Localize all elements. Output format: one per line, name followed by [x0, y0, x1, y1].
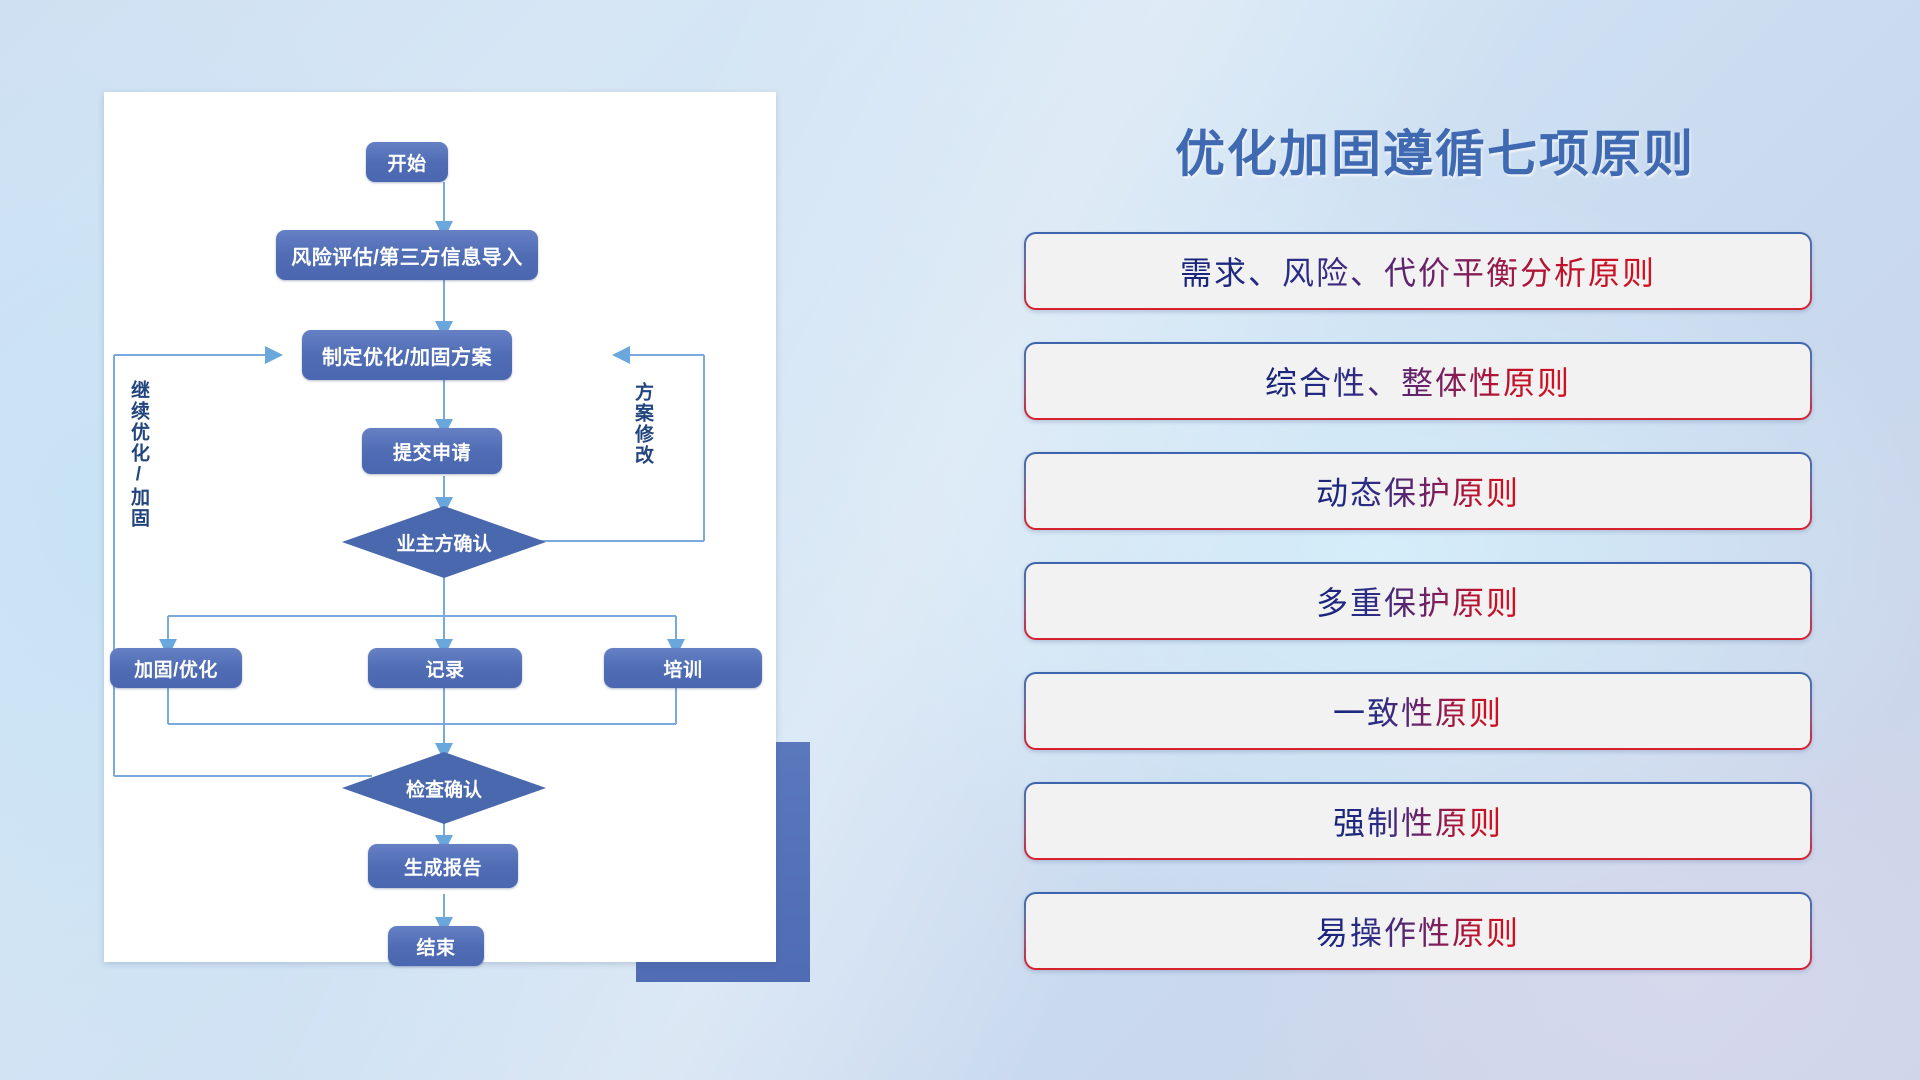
flow-node-submit-application-label: 提交申请 — [393, 438, 471, 465]
flow-node-start[interactable]: 开始 — [366, 142, 448, 182]
flowchart-card: 开始 风险评估/第三方信息导入 制定优化/加固方案 提交申请 业主方确认 加固/… — [104, 92, 776, 962]
principle-item-3-label: 动态保护原则 — [1316, 468, 1520, 514]
flow-node-record[interactable]: 记录 — [368, 648, 522, 688]
principle-item-3[interactable]: 动态保护原则 — [1024, 452, 1812, 530]
flow-node-generate-report[interactable]: 生成报告 — [368, 844, 518, 888]
flow-node-start-label: 开始 — [387, 149, 426, 176]
principle-item-1[interactable]: 需求、风险、代价平衡分析原则 — [1024, 232, 1812, 310]
principle-item-3-inner: 动态保护原则 — [1026, 454, 1810, 528]
principle-item-7-label: 易操作性原则 — [1316, 908, 1520, 954]
flow-node-check-confirm-label: 检查确认 — [406, 775, 482, 802]
flow-node-reinforce-label: 加固/优化 — [134, 655, 218, 682]
flow-node-training[interactable]: 培训 — [604, 648, 762, 688]
principle-item-4-inner: 多重保护原则 — [1026, 564, 1810, 638]
principle-item-2[interactable]: 综合性、整体性原则 — [1024, 342, 1812, 420]
principle-item-5[interactable]: 一致性原则 — [1024, 672, 1812, 750]
principle-item-7-inner: 易操作性原则 — [1026, 894, 1810, 968]
panel-title: 优化加固遵循七项原则 — [1020, 114, 1850, 186]
flow-node-plan[interactable]: 制定优化/加固方案 — [302, 330, 512, 380]
principle-item-2-inner: 综合性、整体性原则 — [1026, 344, 1810, 418]
principle-item-7[interactable]: 易操作性原则 — [1024, 892, 1812, 970]
principle-item-6[interactable]: 强制性原则 — [1024, 782, 1812, 860]
principle-item-4[interactable]: 多重保护原则 — [1024, 562, 1812, 640]
flow-node-owner-confirm-label: 业主方确认 — [396, 529, 491, 556]
flow-node-risk-assessment[interactable]: 风险评估/第三方信息导入 — [276, 230, 538, 280]
principle-item-1-label: 需求、风险、代价平衡分析原则 — [1180, 248, 1656, 294]
slide-canvas: 开始 风险评估/第三方信息导入 制定优化/加固方案 提交申请 业主方确认 加固/… — [0, 0, 1920, 1080]
flow-node-reinforce[interactable]: 加固/优化 — [110, 648, 242, 688]
flow-node-record-label: 记录 — [425, 655, 464, 682]
principle-item-5-label: 一致性原则 — [1333, 688, 1503, 734]
flow-node-plan-label: 制定优化/加固方案 — [322, 341, 492, 370]
flow-node-risk-assessment-label: 风险评估/第三方信息导入 — [291, 241, 523, 270]
flow-node-submit-application[interactable]: 提交申请 — [362, 428, 502, 474]
flow-edge-label-right-loop: 方案修改 — [632, 382, 652, 466]
principle-item-5-inner: 一致性原则 — [1026, 674, 1810, 748]
principle-item-4-label: 多重保护原则 — [1316, 578, 1520, 624]
principle-item-2-label: 综合性、整体性原则 — [1265, 358, 1571, 404]
principle-item-1-inner: 需求、风险、代价平衡分析原则 — [1026, 234, 1810, 308]
flow-node-generate-report-label: 生成报告 — [404, 853, 482, 880]
principles-list: 需求、风险、代价平衡分析原则 综合性、整体性原则 动态保护原则 多重保护原则 一… — [1024, 232, 1812, 1002]
flow-edge-label-left-loop: 继续优化/加固 — [128, 380, 148, 529]
principle-item-6-label: 强制性原则 — [1333, 798, 1503, 844]
flow-node-end[interactable]: 结束 — [388, 926, 484, 966]
principle-item-6-inner: 强制性原则 — [1026, 784, 1810, 858]
flow-node-end-label: 结束 — [416, 933, 455, 960]
flow-node-training-label: 培训 — [663, 655, 702, 682]
